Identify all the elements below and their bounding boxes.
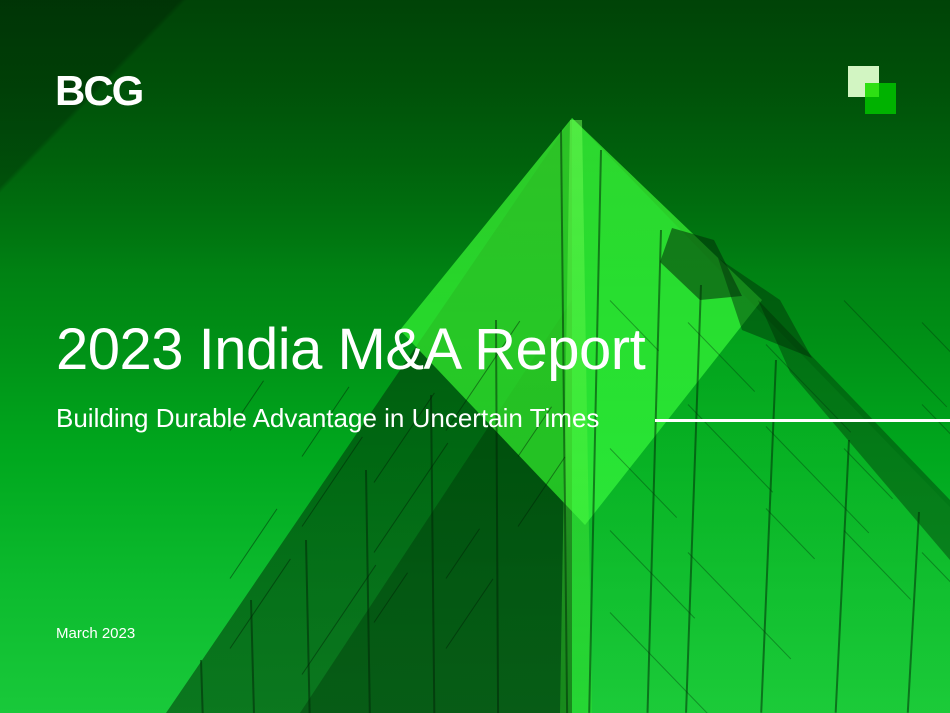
motif-overlap-square [865,83,879,97]
title-rule-divider [655,419,950,422]
bcg-square-motif [848,66,898,116]
publication-date: March 2023 [56,625,135,642]
facade-panel-line [922,404,950,474]
facade-panel-line [844,300,948,407]
page-title: 2023 India M&A Report [56,318,645,382]
facade-panel-line [922,322,950,373]
page-subtitle: Building Durable Advantage in Uncertain … [56,403,599,434]
bcg-logo[interactable]: BCG [55,70,142,112]
report-cover-slide: BCG 2023 India M&A Report Building Durab… [0,0,950,713]
